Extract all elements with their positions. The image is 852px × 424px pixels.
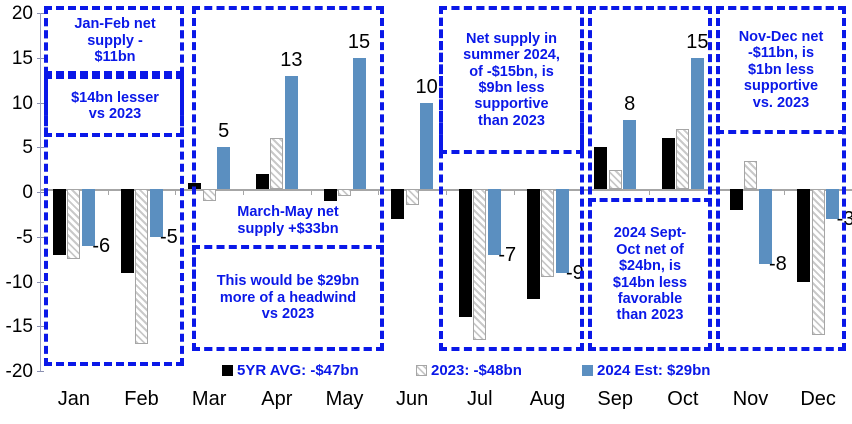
legend-label-2023: 2023: -$48bn [431,363,522,378]
y-tick-label: -5 [0,228,33,247]
annotation-march-may-net: March-May net supply +$33bn [198,198,378,243]
x-category-feb: Feb [108,389,176,409]
y-tick-label: 0 [0,183,33,202]
y-tick-label: -15 [0,317,33,336]
annotation-march-may-headwind: This would be $29bn more of a headwind v… [198,250,378,346]
legend-swatch-2024-est-icon [582,365,593,376]
bar-jun-2023 [406,189,419,205]
y-tick-label: 15 [0,49,33,68]
x-category-jun: Jun [378,389,446,409]
annotation-summer-net: Net supply in summer 2024, of -$15bn, is… [444,10,579,150]
x-category-aug: Aug [514,389,582,409]
annotation-sept-oct-net: 2024 Sept- Oct net of $24bn, is $14bn le… [593,202,707,347]
annotation-box-jan-feb-net [44,6,184,75]
legend-item-2023: 2023: -$48bn [416,363,522,378]
x-category-may: May [311,389,379,409]
x-category-jul: Jul [446,389,514,409]
bar-jun-2024-est [420,103,433,190]
legend-label-2024-est: 2024 Est: $29bn [597,363,710,378]
x-category-nov: Nov [717,389,785,409]
net-supply-bar-chart: 20151050-5-10-15-20 -6-55131510-7-9815-8… [0,0,852,424]
y-tick-label: 10 [0,94,33,113]
y-tick-label: 20 [0,4,33,23]
x-category-sep: Sep [581,389,649,409]
legend-item-5yr-avg: 5YR AVG: -$47bn [222,363,359,378]
chart-legend: 5YR AVG: -$47bn 2023: -$48bn 2024 Est: $… [0,360,852,384]
x-category-apr: Apr [243,389,311,409]
legend-swatch-5yr-avg-icon [222,365,233,376]
annotation-nov-dec-net: Nov-Dec net -$11bn, is $1bn less support… [721,10,841,130]
x-category-oct: Oct [649,389,717,409]
legend-item-2024-est: 2024 Est: $29bn [582,363,710,378]
x-category-dec: Dec [784,389,852,409]
x-category-jan: Jan [40,389,108,409]
y-tick-label: -10 [0,273,33,292]
legend-swatch-2023-icon [416,365,427,376]
x-category-mar: Mar [175,389,243,409]
y-tick-label: 5 [0,138,33,157]
bar-jun-5yr-avg [391,189,404,219]
legend-label-5yr-avg: 5YR AVG: -$47bn [237,363,359,378]
y-axis-line [40,13,41,371]
annotation-jan-feb-lesser: $14bn lesser vs 2023 [50,79,180,133]
